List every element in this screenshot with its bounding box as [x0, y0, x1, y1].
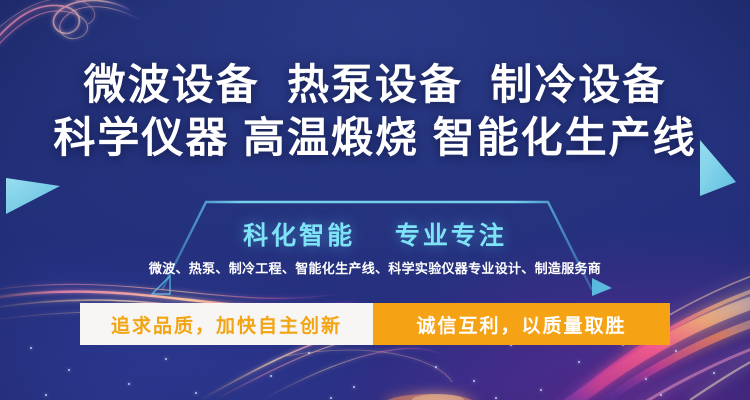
slogan-main: 科化智能 专业专注	[0, 216, 750, 252]
promo-banner: 微波设备 热泵设备 制冷设备 科学仪器 高温煅烧 智能化生产线 科化智能 专业专…	[0, 0, 750, 400]
headline-block: 微波设备 热泵设备 制冷设备 科学仪器 高温煅烧 智能化生产线	[0, 58, 750, 164]
pill-right: 诚信互利，以质量取胜	[373, 303, 670, 345]
slogan-pill-row: 追求品质，加快自主创新 诚信互利，以质量取胜	[80, 303, 670, 345]
slogan-block: 科化智能 专业专注 微波、热泵、制冷工程、智能化生产线、科学实验仪器专业设计、制…	[0, 198, 750, 290]
slogan-sub: 微波、热泵、制冷工程、智能化生产线、科学实验仪器专业设计、制造服务商	[0, 258, 750, 277]
headline-line-1: 微波设备 热泵设备 制冷设备	[0, 58, 750, 111]
headline-line-2: 科学仪器 高温煅烧 智能化生产线	[0, 111, 750, 164]
pill-left: 追求品质，加快自主创新	[80, 303, 373, 345]
